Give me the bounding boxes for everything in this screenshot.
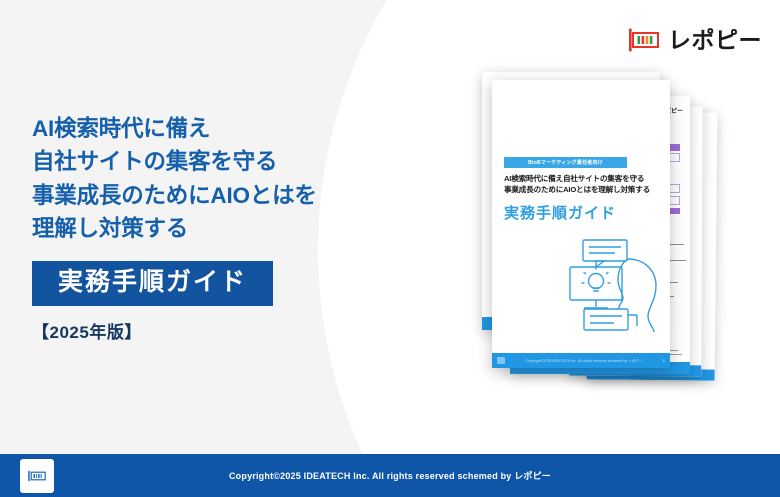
cover-title: AI検索時代に備え自社サイトの集客を守る 事業成長のためにAIOとはを理解し対策… [504, 174, 662, 196]
brand-name: レポピー [668, 29, 762, 52]
headline-line-1: AI検索時代に備え [32, 112, 317, 145]
scroll-barcode-icon [627, 28, 661, 52]
cover-illustration [566, 238, 666, 333]
guide-badge: 実務手順ガイド [32, 261, 273, 306]
slide-canvas: レポピー AI検索時代に備え 自社サイトの集客を守る 事業成長のためにAIOとは… [0, 0, 780, 497]
year-label: 【2025年版】 [32, 318, 317, 343]
headline-line-3: 事業成長のためにAIOとはを [32, 179, 317, 212]
cover-footer-copyright: Copyright©2025 IDEATECH Inc. All rights … [505, 358, 663, 363]
cover-footer: Copyright©2025 IDEATECH Inc. All rights … [492, 353, 670, 368]
cover-audience-badge: BtoBマーケティング責任者向け [504, 157, 627, 168]
page-title: AI検索時代に備え 自社サイトの集客を守る 事業成長のためにAIOとはを 理解し… [32, 112, 317, 245]
cover-footer-logo-icon [497, 357, 505, 364]
headline-line-4: 理解し対策する [32, 212, 317, 245]
headline-line-2: 自社サイトの集客を守る [32, 145, 317, 178]
cover-title-line-1: AI検索時代に備え自社サイトの集客を守る [504, 174, 662, 185]
cover-subtitle: 実務手順ガイド [504, 202, 616, 223]
brand-logo: レポピー [627, 28, 762, 52]
headline-block: AI検索時代に備え 自社サイトの集客を守る 事業成長のためにAIOとはを 理解し… [32, 112, 317, 343]
document-stack: レポピー [470, 72, 770, 402]
footer-bar: Copyright©2025 IDEATECH Inc. All rights … [0, 454, 780, 497]
document-cover: BtoBマーケティング責任者向け AI検索時代に備え自社サイトの集客を守る 事業… [492, 80, 670, 368]
cover-page-number: 1 [663, 358, 665, 363]
footer-copyright: Copyright©2025 IDEATECH Inc. All rights … [0, 469, 780, 482]
cover-title-line-2: 事業成長のためにAIOとはを理解し対策する [504, 185, 662, 196]
